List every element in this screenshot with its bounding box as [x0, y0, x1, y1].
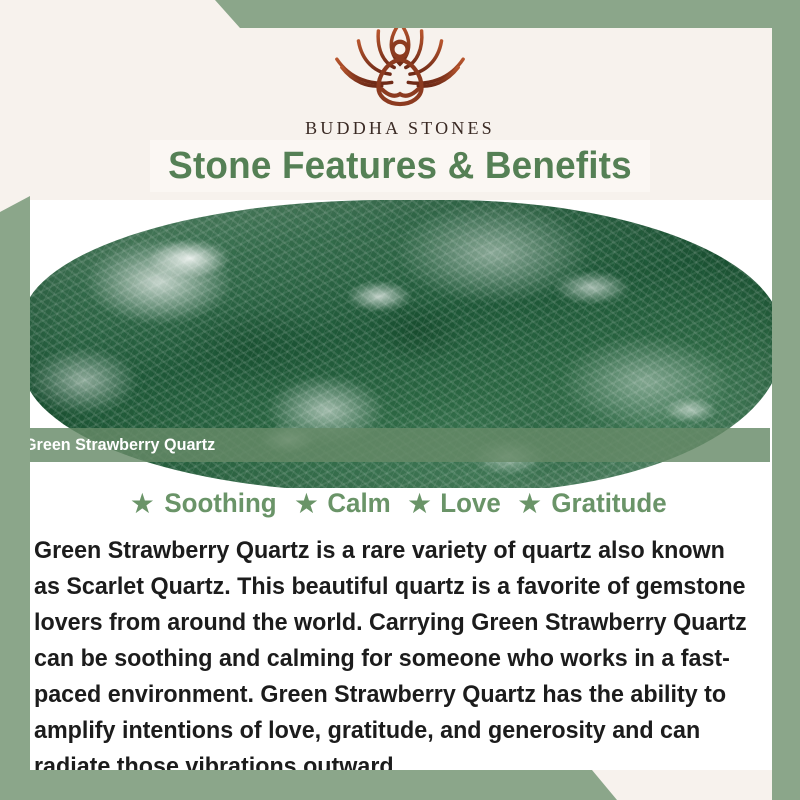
- decor-top-band: [0, 0, 800, 28]
- decor-left-band: [0, 0, 30, 800]
- keyword-item: ★ Love: [400, 488, 510, 519]
- page-title: Stone Features & Benefits: [168, 145, 632, 188]
- decor-right-band: [772, 0, 800, 800]
- keyword-item: ★ Gratitude: [510, 488, 677, 519]
- keyword-item: ★ Soothing: [123, 488, 287, 519]
- star-icon: ★: [517, 490, 542, 518]
- title-band: Stone Features & Benefits: [150, 140, 650, 192]
- brand-name: BUDDHA STONES: [305, 118, 495, 139]
- star-icon: ★: [130, 490, 155, 518]
- star-icon: ★: [294, 490, 319, 518]
- keyword-label: Calm: [327, 488, 390, 519]
- keyword-label: Gratitude: [552, 488, 667, 519]
- stone-photo: Green Strawberry Quartz: [30, 200, 772, 488]
- lotus-meditation-icon: [316, 28, 484, 114]
- keyword-item: ★ Calm: [287, 488, 400, 519]
- keyword-row: ★ Soothing ★ Calm ★ Love ★ Gratitude: [30, 488, 772, 519]
- page-canvas: BUDDHA STONES Stone Features & Benefits …: [30, 28, 772, 770]
- keyword-label: Love: [440, 488, 501, 519]
- star-icon: ★: [407, 490, 432, 518]
- description-paragraph: Green Strawberry Quartz is a rare variet…: [34, 533, 754, 770]
- decor-bottom-band: [0, 770, 800, 800]
- photo-caption-bar: Green Strawberry Quartz: [30, 428, 770, 462]
- photo-caption-label: Green Strawberry Quartz: [30, 435, 215, 455]
- keyword-label: Soothing: [164, 488, 276, 519]
- brand-logo: BUDDHA STONES: [30, 28, 772, 139]
- header: BUDDHA STONES Stone Features & Benefits: [30, 28, 772, 222]
